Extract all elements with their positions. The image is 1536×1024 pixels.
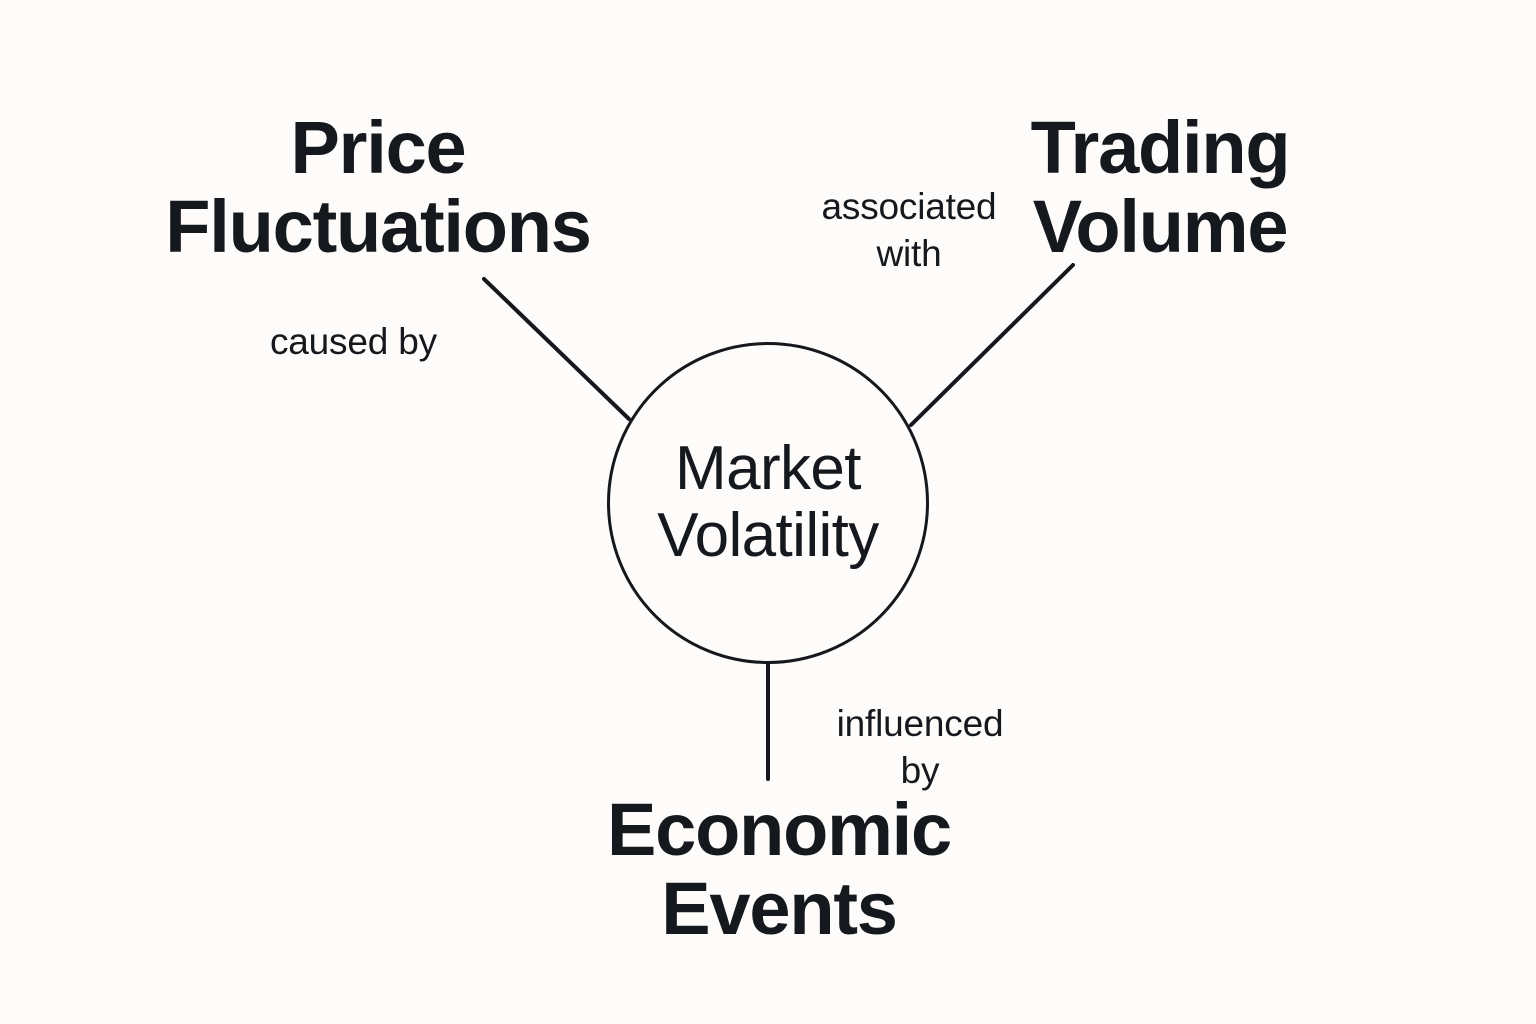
- edge-line-price-fluctuations: [484, 279, 629, 419]
- edge-label-influenced-by: influenced by: [818, 700, 1022, 795]
- diagram-canvas: Market Volatility Price Fluctuations Tra…: [0, 0, 1536, 1024]
- node-trading-volume[interactable]: Trading Volume: [1010, 108, 1310, 266]
- node-economic-events[interactable]: Economic Events: [534, 790, 1024, 948]
- node-price-fluctuations[interactable]: Price Fluctuations: [108, 108, 648, 266]
- center-node-market-volatility[interactable]: Market Volatility: [607, 342, 929, 664]
- center-node-label: Market Volatility: [657, 436, 878, 570]
- edge-label-associated-with: associated with: [803, 183, 1015, 278]
- edge-line-trading-volume: [911, 265, 1073, 425]
- edge-label-caused-by: caused by: [270, 318, 470, 365]
